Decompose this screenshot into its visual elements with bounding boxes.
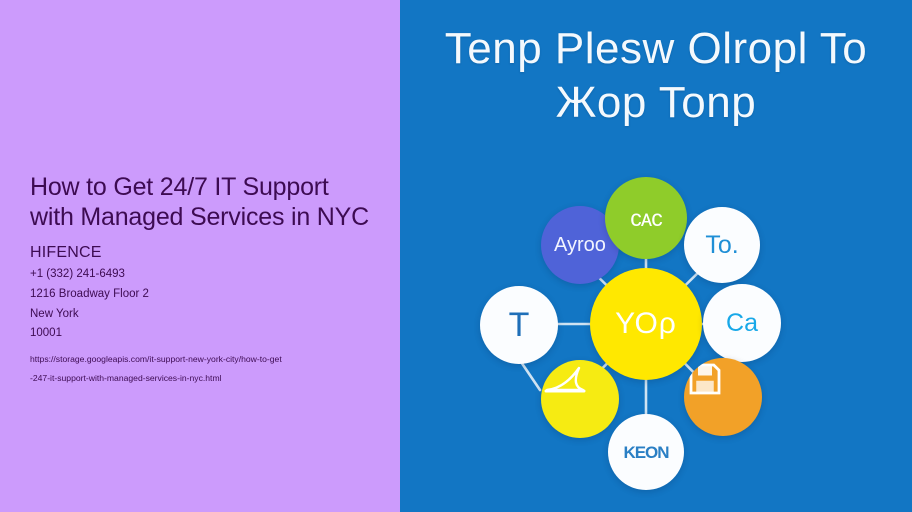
floppy-disk-icon — [684, 358, 726, 400]
cloud-glyph: ᴄᴀᴄ — [630, 207, 661, 230]
diagram-node-right[interactable]: Ca — [703, 284, 781, 362]
brand-name: HIFENCE — [30, 242, 375, 264]
swoosh-icon — [541, 360, 589, 400]
hero-heading-line-2: Жop Tonp — [410, 76, 902, 130]
left-content-block: How to Get 24/7 IT Support with Managed … — [30, 172, 375, 388]
hero-heading: Tenp Plesw Olropl To Жop Tonp — [400, 22, 912, 129]
text-glyph-t: T — [509, 308, 530, 342]
diagram-node-lower-right[interactable] — [684, 358, 762, 436]
text-glyph-to: To. — [705, 233, 738, 258]
diagram-node-upper-right[interactable]: To. — [684, 207, 760, 283]
hero-heading-line-1: Tenp Plesw Olropl To — [445, 24, 868, 73]
hub-and-spoke-diagram: ΥΟρ Ayroo ᴄᴀᴄ To. Ca — [400, 160, 912, 512]
page-title: How to Get 24/7 IT Support with Managed … — [30, 172, 375, 233]
diagram-node-top[interactable]: ᴄᴀᴄ — [605, 177, 687, 259]
text-glyph-top: ΥΟρ — [615, 309, 677, 339]
source-url[interactable]: https://storage.googleapis.com/it-suppor… — [30, 350, 375, 388]
text-glyph-ayroo: Ayroo — [554, 235, 606, 255]
diagram-node-left[interactable]: T — [480, 286, 558, 364]
source-url-part-1: https://storage.googleapis.com/it-suppor… — [30, 354, 282, 364]
zip-line: 10001 — [30, 324, 375, 344]
city-line: New York — [30, 305, 375, 325]
source-url-part-2: -247-it-support-with-managed-services-in… — [30, 373, 222, 383]
text-glyph-keon: KEON — [623, 444, 668, 461]
phone-number: +1 (332) 241-6493 — [30, 265, 375, 285]
social-share-card: How to Get 24/7 IT Support with Managed … — [0, 0, 912, 512]
diagram-node-lower-left[interactable] — [541, 360, 619, 438]
right-graphic-panel: Tenp Plesw Olropl To Жop Tonp — [400, 0, 912, 512]
address-line: 1216 Broadway Floor 2 — [30, 285, 375, 305]
left-info-panel: How to Get 24/7 IT Support with Managed … — [0, 0, 400, 512]
diagram-node-bottom[interactable]: KEON — [608, 414, 684, 490]
text-glyph-ca: Ca — [726, 311, 758, 336]
